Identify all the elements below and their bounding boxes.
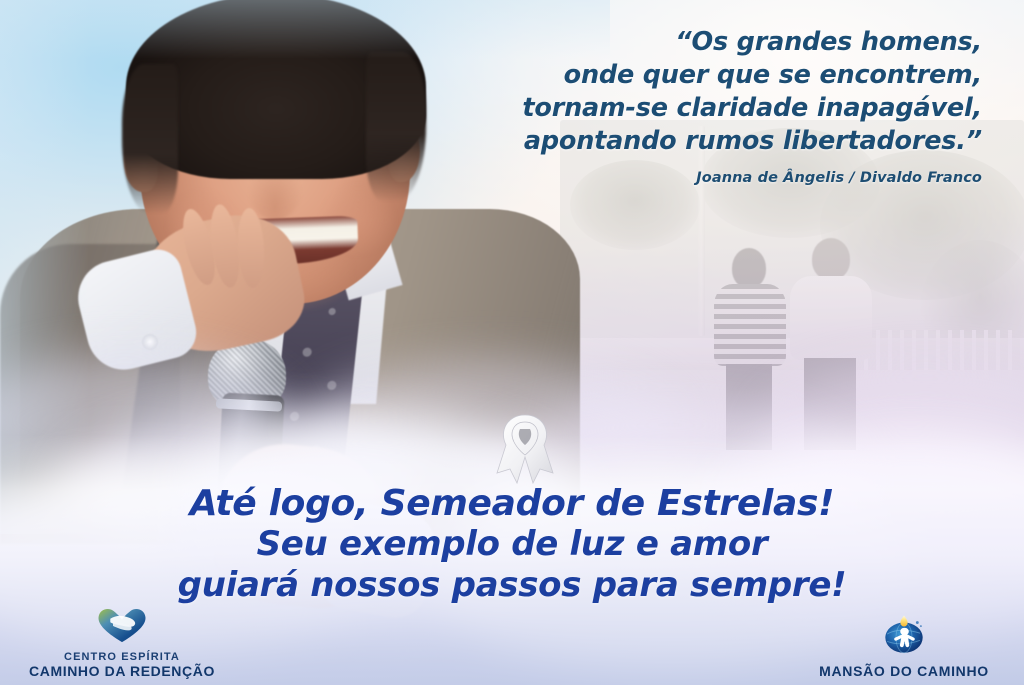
tribute-line-2: Seu exemplo de luz e amor <box>0 524 1024 565</box>
logo-left-line-1: CENTRO ESPÍRITA <box>12 651 232 663</box>
background-walking-man <box>788 238 874 450</box>
quote-line-2: onde quer que se encontrem, <box>382 59 982 92</box>
logo-left-line-2: CAMINHO DA REDENÇÃO <box>12 663 232 679</box>
tribute-line-1: Até logo, Semeador de Estrelas! <box>0 483 1024 524</box>
quote-line-1: “Os grandes homens, <box>382 26 982 59</box>
logo-right-line-2: MANSÃO DO CAMINHO <box>794 663 1014 679</box>
heart-hands-icon <box>12 606 232 649</box>
quote-block: “Os grandes homens, onde quer que se enc… <box>382 26 982 186</box>
tribute-line-3: guiará nossos passos para sempre! <box>0 565 1024 606</box>
hair <box>122 64 178 214</box>
quote-attribution: Joanna de Ângelis / Divaldo Franco <box>382 170 982 186</box>
logo-mansao-do-caminho: MANSÃO DO CAMINHO <box>794 614 1014 679</box>
quote-line-4: apontando rumos libertadores.” <box>382 125 982 158</box>
tribute-message: Até logo, Semeador de Estrelas! Seu exem… <box>0 483 1024 606</box>
quote-line-3: tornam-se claridade inapagável, <box>382 92 982 125</box>
logo-centro-espirita-caminho-da-redencao: CENTRO ESPÍRITA CAMINHO DA REDENÇÃO <box>12 606 232 679</box>
globe-figure-flame-icon <box>794 614 1014 661</box>
memorial-poster: “Os grandes homens, onde quer que se enc… <box>0 0 1024 685</box>
background-walking-man <box>710 248 788 448</box>
cuff-button <box>142 334 158 350</box>
